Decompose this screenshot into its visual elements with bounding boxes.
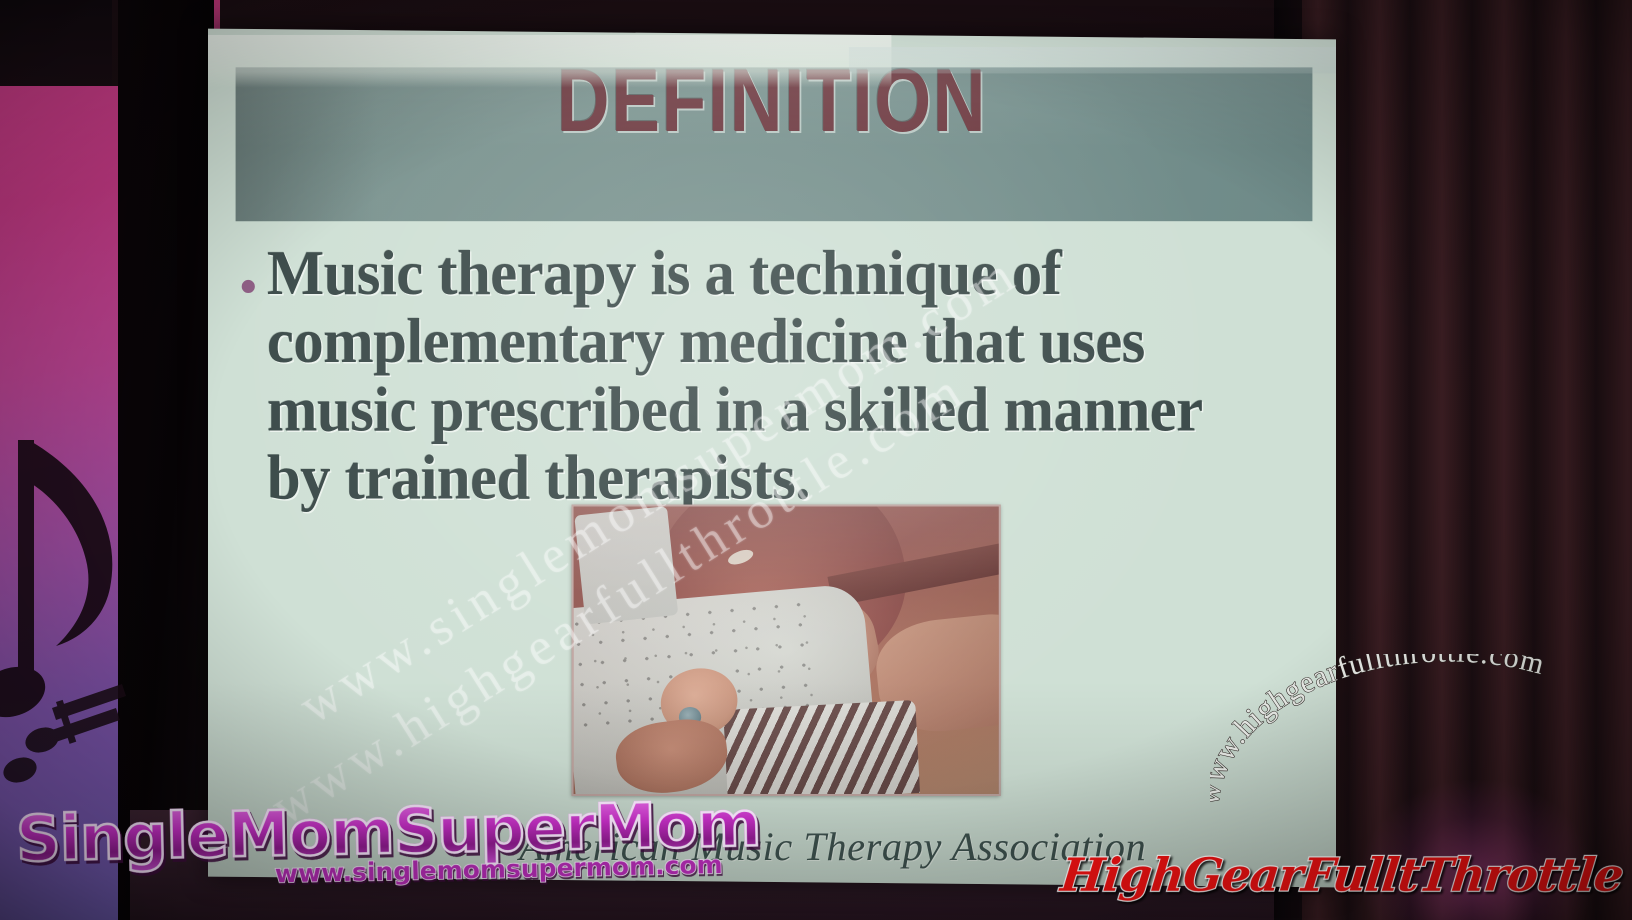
slide-photo (572, 505, 1001, 796)
bullet-text: Music therapy is a technique of compleme… (267, 239, 1262, 512)
logo-highgearfulltthrottle: HighGearFulltThrottle (1058, 848, 1625, 902)
screenshot-root: DEFINITION Music therapy is a technique … (0, 0, 1632, 920)
wall-upper-shadow (0, 0, 112, 96)
photo-light-overlay (574, 507, 999, 794)
projection-screen: DEFINITION Music therapy is a technique … (208, 29, 1336, 888)
slide-title: DEFINITION (304, 49, 1240, 152)
bullet-list-item: Music therapy is a technique of compleme… (242, 239, 1315, 512)
bullet-dot-icon (242, 280, 255, 293)
slide-body: Music therapy is a technique of compleme… (242, 239, 1315, 512)
music-note-icon (0, 440, 140, 800)
slide-surface: DEFINITION Music therapy is a technique … (208, 29, 1336, 887)
logo-singlemomsupermom: SingleMomSuperMom www.singlemomsupermom.… (15, 787, 761, 876)
